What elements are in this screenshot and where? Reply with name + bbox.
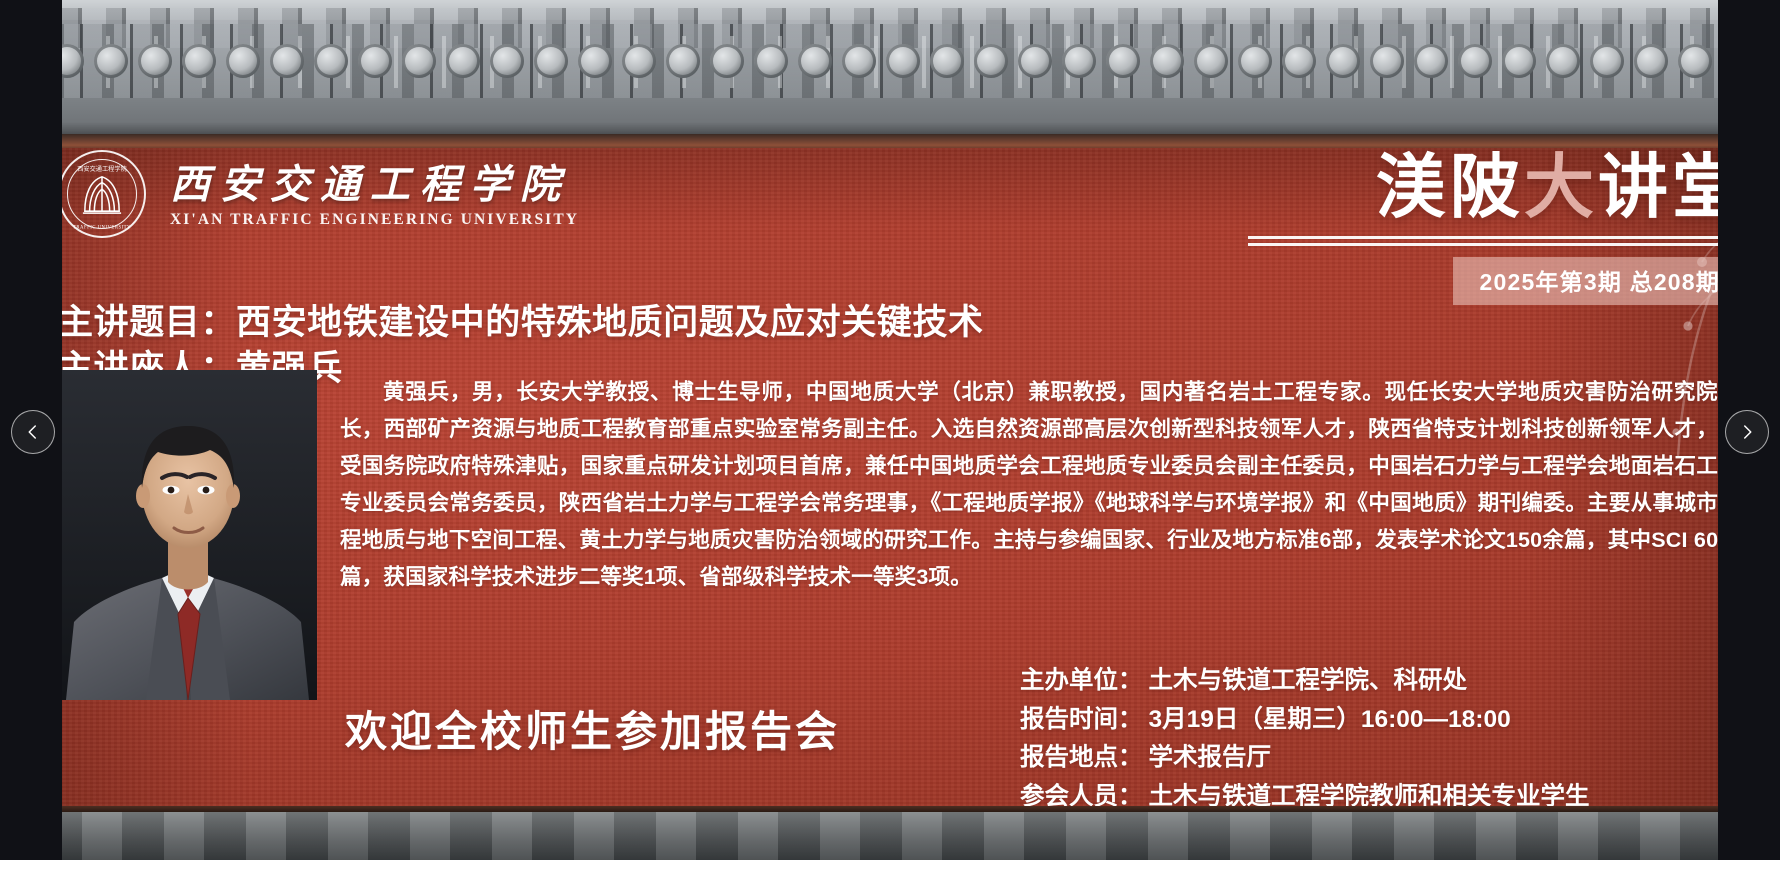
university-seal-icon: 西安交通工程学院 TRAFFIC UNIVERSITY (58, 150, 146, 238)
title-rules (1226, 236, 1746, 246)
carousel-next-button[interactable] (1725, 410, 1769, 454)
lecture-series-title: 渼陂大讲堂 (1226, 150, 1746, 226)
lecture-title-part1: 渼陂 (1376, 148, 1524, 226)
roof-eave-medallions (6, 44, 1780, 88)
lecture-poster-slide[interactable]: 西安交通工程学院 TRAFFIC UNIVERSITY 西安交通工程学院 XI'… (0, 0, 1780, 860)
carousel-prev-button[interactable] (11, 410, 55, 454)
event-info-label: 报告地点： (1020, 744, 1143, 771)
wall-plinth (0, 806, 1780, 860)
welcome-line: 欢迎全校师生参加报告会 (345, 698, 840, 759)
roof-decoration (0, 0, 1780, 152)
speaker-portrait (58, 370, 317, 700)
event-info-row: 主办单位：土木与铁道工程学院、科研处 (1020, 662, 1590, 701)
chevron-left-icon (24, 423, 42, 441)
event-info-value: 学术报告厅 (1149, 744, 1272, 771)
svg-text:TRAFFIC UNIVERSITY: TRAFFIC UNIVERSITY (73, 225, 131, 230)
speaker-bio: 黄强兵，男，长安大学教授、博士生导师，中国地质大学（北京）兼职教授，国内著名岩土… (340, 374, 1740, 596)
speaker-bio-text: 黄强兵，男，长安大学教授、博士生导师，中国地质大学（北京）兼职教授，国内著名岩土… (340, 374, 1740, 596)
rule-top (1248, 236, 1746, 239)
event-info-row: 报告时间：3月19日（星期三）16:00—18:00 (1020, 701, 1590, 740)
lecture-title-accent: 大 (1524, 148, 1598, 226)
lecture-series-brand: 渼陂大讲堂 2025年第3期 总208期 (1226, 150, 1746, 305)
event-info-label: 报告时间： (1020, 706, 1143, 733)
university-name-cn: 西安交通工程学院 (170, 163, 579, 208)
chevron-right-icon (1738, 423, 1756, 441)
svg-text:西安交通工程学院: 西安交通工程学院 (77, 165, 127, 173)
event-info-label: 主办单位： (1020, 667, 1143, 694)
issue-badge: 2025年第3期 总208期 (1453, 257, 1746, 305)
event-info-value: 3月19日（星期三）16:00—18:00 (1149, 706, 1511, 733)
event-info-value: 土木与铁道工程学院、科研处 (1149, 667, 1468, 694)
topic-line: 主讲题目：西安地铁建设中的特殊地质问题及应对关键技术 (58, 300, 984, 346)
event-info-block: 主办单位：土木与铁道工程学院、科研处 报告时间：3月19日（星期三）16:00—… (1020, 662, 1590, 817)
page-bottom-strip (0, 860, 1780, 888)
event-info-row: 报告地点：学术报告厅 (1020, 739, 1590, 778)
university-brand: 西安交通工程学院 TRAFFIC UNIVERSITY 西安交通工程学院 XI'… (58, 150, 579, 238)
university-name-en: XI'AN TRAFFIC ENGINEERING UNIVERSITY (170, 211, 579, 229)
rule-bottom (1248, 243, 1746, 246)
page-root: 西安交通工程学院 TRAFFIC UNIVERSITY 西安交通工程学院 XI'… (0, 0, 1780, 888)
